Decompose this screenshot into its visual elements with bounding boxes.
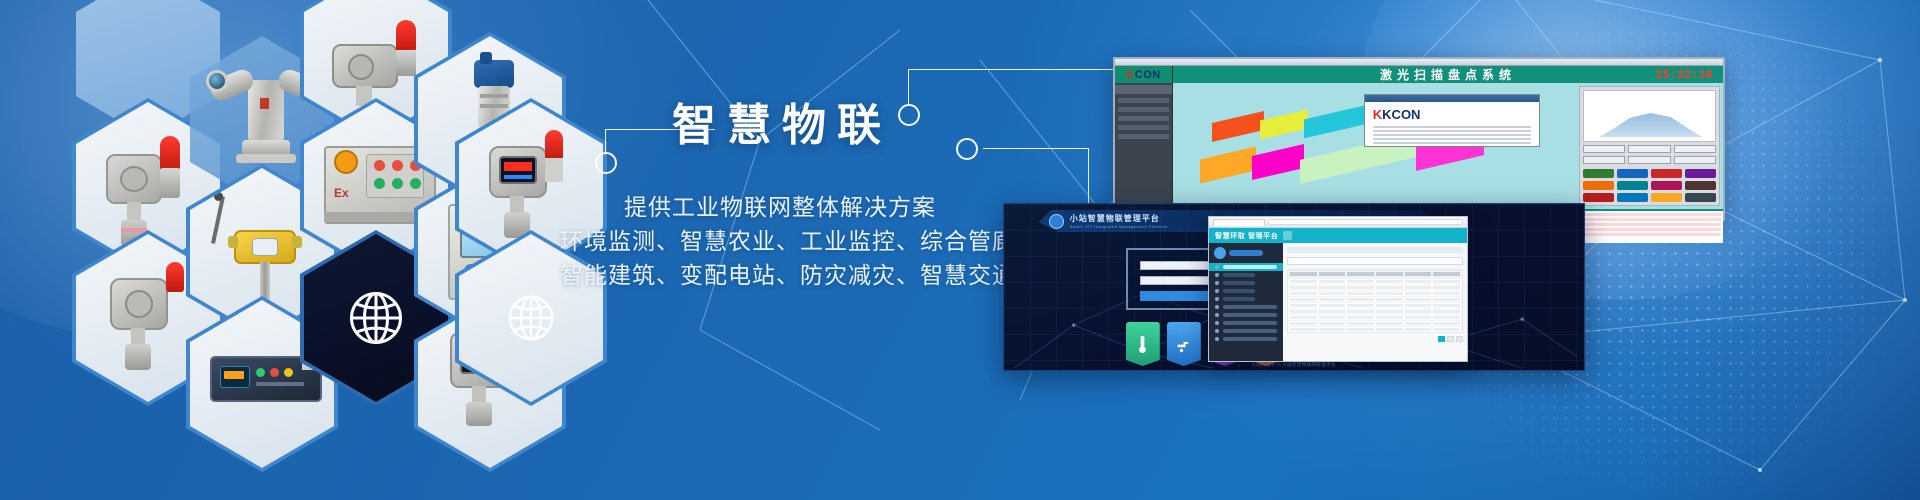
sidebar-menu[interactable] xyxy=(1115,94,1172,147)
sidebar-item-alarm-records[interactable] xyxy=(1209,295,1283,303)
subtitle-line-3: 智能建筑、变配电站、防灾减灾、智慧交通 xyxy=(560,258,1000,292)
breadcrumb xyxy=(1287,247,1463,253)
connector-top-vertical xyxy=(908,69,909,105)
admin-brand: 智慧环取 管理平台 xyxy=(1215,231,1278,241)
kcon-logo-rest: CON xyxy=(1135,69,1161,81)
thermometer-icon xyxy=(1135,334,1150,354)
dialog-titlebar xyxy=(1365,95,1539,102)
monitor-clock: 15:22:10 xyxy=(1655,68,1713,82)
sidebar-subbar xyxy=(1115,85,1172,94)
avatar xyxy=(1214,247,1226,259)
monitor-window-title: 激光扫描盘点系统 xyxy=(1380,66,1516,83)
table-header-row xyxy=(1288,270,1462,278)
search-input[interactable] xyxy=(1287,257,1463,265)
admin-user-block[interactable] xyxy=(1209,247,1283,263)
admin-content xyxy=(1283,243,1467,361)
laser-scan-3d-view[interactable]: KKCON xyxy=(1176,86,1576,206)
connector-mid-vertical xyxy=(1088,148,1089,210)
pagination[interactable] xyxy=(1287,336,1463,342)
page-1-button[interactable] xyxy=(1438,336,1445,342)
sidebar-item-realtime-data[interactable] xyxy=(1209,279,1283,287)
admin-sidebar[interactable] xyxy=(1209,243,1283,361)
dashboard-title: 小站智慧物联管理平台 xyxy=(1070,213,1168,224)
browser-tab[interactable] xyxy=(1213,219,1265,226)
sidebar-item-run-statistics[interactable] xyxy=(1209,327,1283,335)
monitor-control-panel[interactable] xyxy=(1579,86,1720,206)
dashboard-footer: Copyright © 小站智慧物联网管理平台 xyxy=(1004,362,1584,368)
monitor-header: 激光扫描盘点系统 15:22:10 xyxy=(1173,66,1723,83)
page-2-button[interactable] xyxy=(1447,336,1454,342)
browser-url-bar[interactable] xyxy=(1268,219,1463,225)
globe-icon xyxy=(500,287,562,349)
kcon-logo-prefix: K xyxy=(1126,69,1134,81)
sidebar-item-gas-monitoring[interactable] xyxy=(1209,303,1283,311)
headline-block: 智慧物联 提供工业物联网整体解决方案 环境监测、智慧农业、工业监控、综合管廊、 … xyxy=(560,104,1000,292)
temperature-card[interactable] xyxy=(1126,322,1160,366)
subtitle-line-1: 提供工业物联网整体解决方案 xyxy=(560,190,1000,224)
sidebar-item-site-management[interactable] xyxy=(1209,263,1283,271)
dashboard-subtitle: Smart IOT Integrated Management Platform xyxy=(1070,224,1168,229)
connector-top-horizontal xyxy=(908,69,1113,70)
sidebar-item-system-settings[interactable] xyxy=(1209,335,1283,343)
page-title: 智慧物联 xyxy=(564,104,1000,148)
globe-icon xyxy=(340,282,412,354)
product-hexagon-mosaic: Ex xyxy=(0,0,620,500)
user-role-pill xyxy=(1229,250,1263,256)
panel-icon-grid[interactable] xyxy=(1583,169,1716,202)
table-row[interactable] xyxy=(1288,326,1462,332)
environment-mini-chart xyxy=(1583,90,1716,142)
kcon-about-dialog[interactable]: KKCON xyxy=(1364,94,1540,147)
dialog-brand-rest: KCON xyxy=(1382,107,1420,122)
browser-chrome[interactable] xyxy=(1209,217,1467,228)
sidebar-item-history-curve[interactable] xyxy=(1209,287,1283,295)
monitor-sidebar: KCON xyxy=(1115,66,1173,219)
faucet-icon xyxy=(1175,335,1192,353)
iot-solution-banner: Ex xyxy=(0,0,1920,500)
monitor-titlebar xyxy=(1115,59,1723,66)
subtitle-line-2: 环境监测、智慧农业、工业监控、综合管廊、 xyxy=(560,224,1000,258)
admin-topbar: 智慧环取 管理平台 xyxy=(1209,228,1467,243)
admin-menu-toggle[interactable] xyxy=(1283,231,1292,240)
dialog-brand: KKCON xyxy=(1365,102,1539,124)
page-3-button[interactable] xyxy=(1456,336,1463,342)
dialog-brand-prefix: K xyxy=(1373,107,1382,122)
sidebar-item-video-surveillance[interactable] xyxy=(1209,311,1283,319)
kcon-logo-sidebar: KCON xyxy=(1115,66,1172,83)
sidebar-item-device-overview[interactable] xyxy=(1209,271,1283,279)
dashboard-logo-badge xyxy=(1049,214,1064,229)
admin-browser-window[interactable]: 智慧环取 管理平台 xyxy=(1208,216,1468,362)
data-table[interactable] xyxy=(1287,269,1463,333)
monitor-log-panel xyxy=(1580,211,1723,243)
sidebar-item-alarm-management[interactable] xyxy=(1209,319,1283,327)
water-card[interactable] xyxy=(1167,322,1201,366)
laser-scan-monitor[interactable]: KCON 激光扫描盘点系统 15:22:10 xyxy=(1113,57,1725,221)
